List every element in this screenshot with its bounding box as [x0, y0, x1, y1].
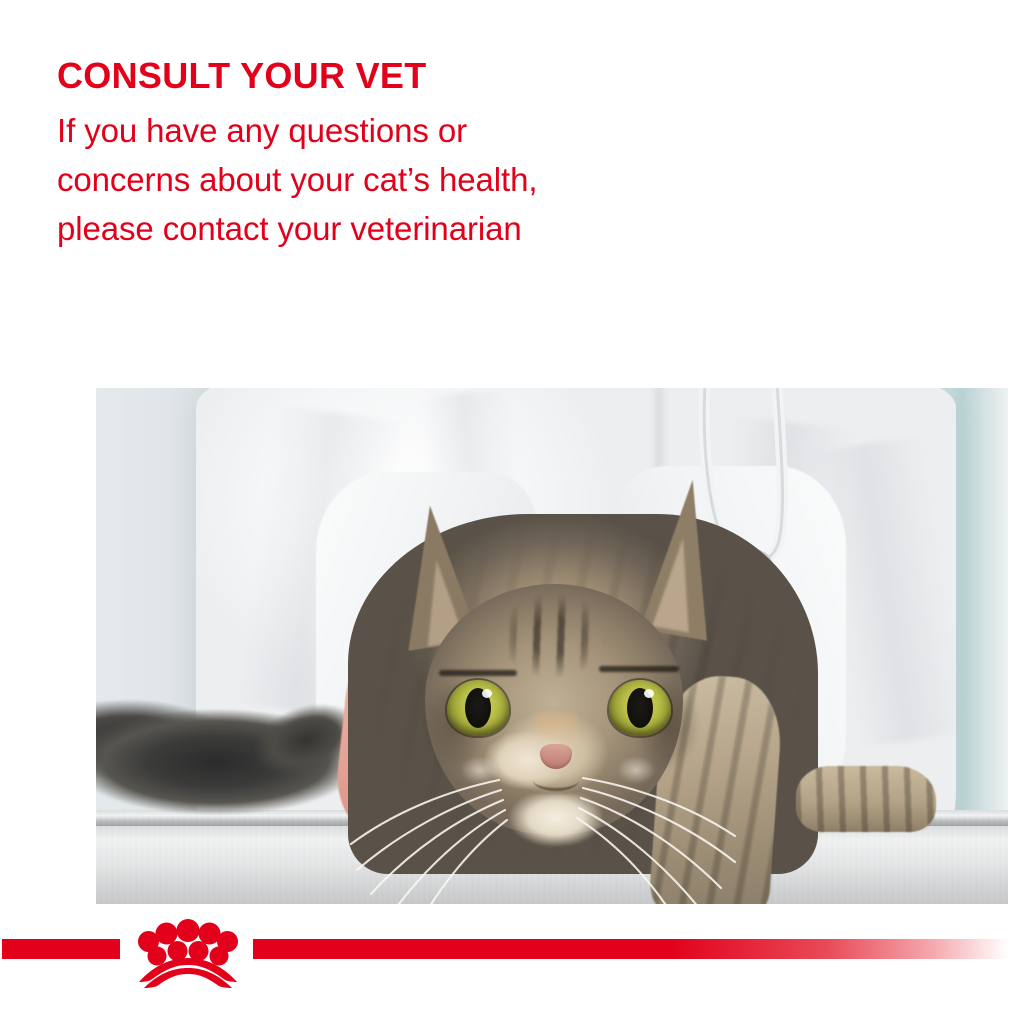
- cat-eye-glint-left: [482, 689, 492, 698]
- page-title: CONSULT YOUR VET: [57, 54, 757, 98]
- red-rule-left: [2, 939, 120, 959]
- cat-paw-right-stripes: [796, 766, 936, 832]
- cat-brow-left: [439, 670, 517, 676]
- royal-canin-crown-logo: [133, 908, 243, 988]
- brand-footer: [0, 938, 1024, 1024]
- cat-head: [391, 518, 721, 848]
- body-line-2: concerns about your cat’s health,: [57, 155, 757, 204]
- text-block: CONSULT YOUR VET If you have any questio…: [57, 54, 757, 253]
- body-copy: If you have any questions or concerns ab…: [57, 98, 757, 253]
- cat-paw-right: [796, 766, 936, 832]
- vet-cat-photo: [96, 388, 1008, 904]
- photo-background: [96, 388, 1008, 904]
- body-line-3: please contact your veterinarian: [57, 204, 757, 253]
- cat: [96, 388, 1008, 904]
- cat-eye-glint-right: [644, 689, 654, 698]
- poster-page: CONSULT YOUR VET If you have any questio…: [0, 0, 1024, 1024]
- red-rule-right: [253, 939, 1008, 959]
- cat-whiskers: [331, 698, 781, 904]
- body-line-1: If you have any questions or: [57, 106, 757, 155]
- cat-brow-right: [599, 666, 679, 672]
